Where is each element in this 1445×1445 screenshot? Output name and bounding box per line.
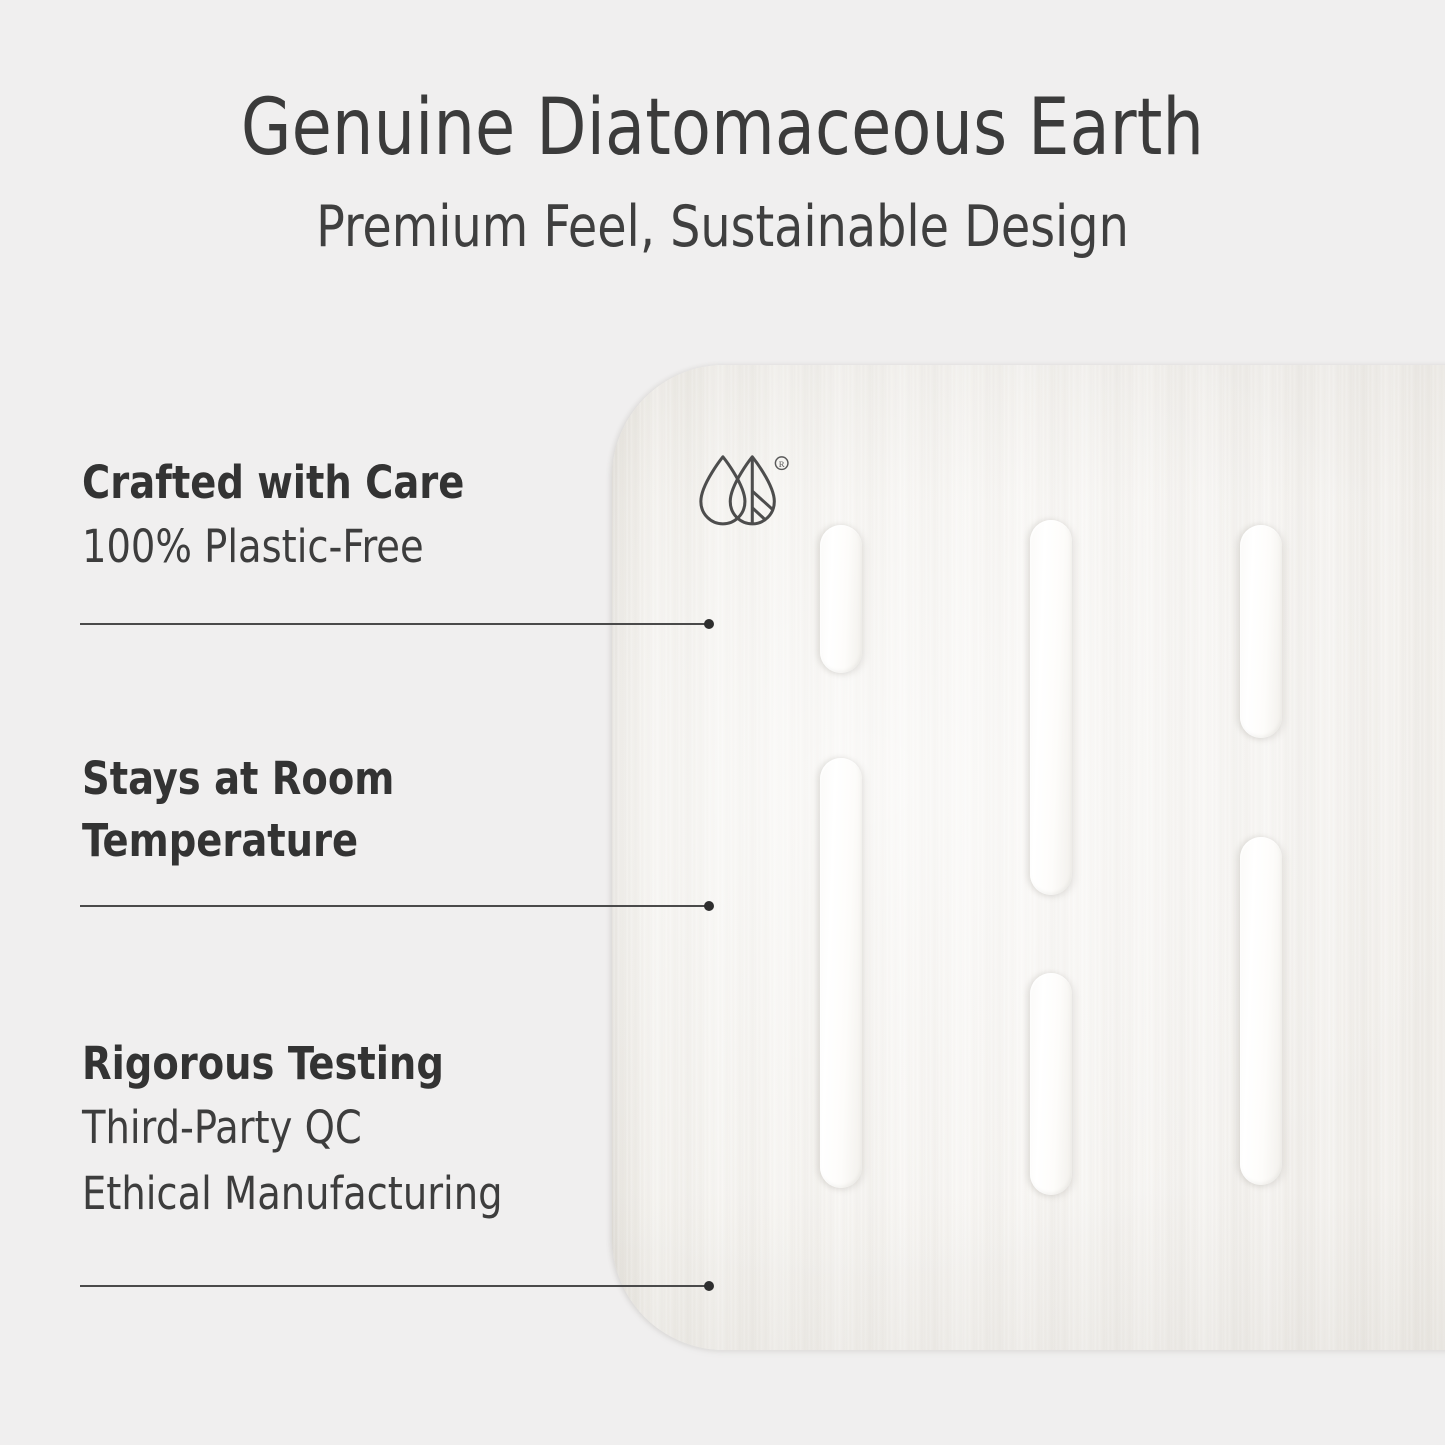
svg-text:R: R bbox=[779, 459, 785, 469]
groove-col3-top bbox=[1240, 525, 1282, 738]
feature-subtext-2: Ethical Manufacturing bbox=[82, 1161, 614, 1227]
leader-line-stroke bbox=[80, 623, 710, 625]
leader-line-endpoint-dot bbox=[704, 619, 714, 629]
feature-block-stays-at-room-temperature: Stays at Room Temperature bbox=[82, 748, 642, 872]
leader-line-stroke bbox=[80, 905, 710, 907]
feature-title: Rigorous Testing bbox=[82, 1033, 614, 1095]
page-title: Genuine Diatomaceous Earth bbox=[51, 0, 1395, 170]
groove-col1-bottom bbox=[820, 758, 862, 1188]
registered-trademark-icon: R bbox=[775, 457, 788, 470]
leader-line-endpoint-dot bbox=[704, 901, 714, 911]
droplet-leaf-logo: R bbox=[693, 447, 791, 543]
feature-block-rigorous-testing: Rigorous Testing Third-Party QC Ethical … bbox=[82, 1033, 642, 1226]
leader-line-1 bbox=[80, 623, 710, 625]
feature-subtext-1: Third-Party QC bbox=[82, 1095, 614, 1161]
groove-col2-top bbox=[1030, 520, 1072, 895]
leader-line-endpoint-dot bbox=[704, 1281, 714, 1291]
feature-title-line2: Temperature bbox=[82, 810, 614, 872]
leader-line-stroke bbox=[80, 1285, 710, 1287]
groove-col1-top bbox=[820, 525, 862, 673]
leader-line-2 bbox=[80, 905, 710, 907]
leader-line-3 bbox=[80, 1285, 710, 1287]
product-feature-graphic: Genuine Diatomaceous Earth Premium Feel,… bbox=[0, 0, 1445, 1445]
page-subtitle: Premium Feel, Sustainable Design bbox=[51, 170, 1395, 259]
feature-title: Crafted with Care bbox=[82, 452, 614, 514]
feature-subtext: 100% Plastic-Free bbox=[82, 514, 614, 580]
groove-col2-bottom bbox=[1030, 973, 1072, 1195]
header: Genuine Diatomaceous Earth Premium Feel,… bbox=[0, 0, 1445, 259]
feature-block-crafted-with-care: Crafted with Care 100% Plastic-Free bbox=[82, 452, 642, 580]
feature-title: Stays at Room bbox=[82, 748, 614, 810]
groove-col3-bottom bbox=[1240, 837, 1282, 1185]
